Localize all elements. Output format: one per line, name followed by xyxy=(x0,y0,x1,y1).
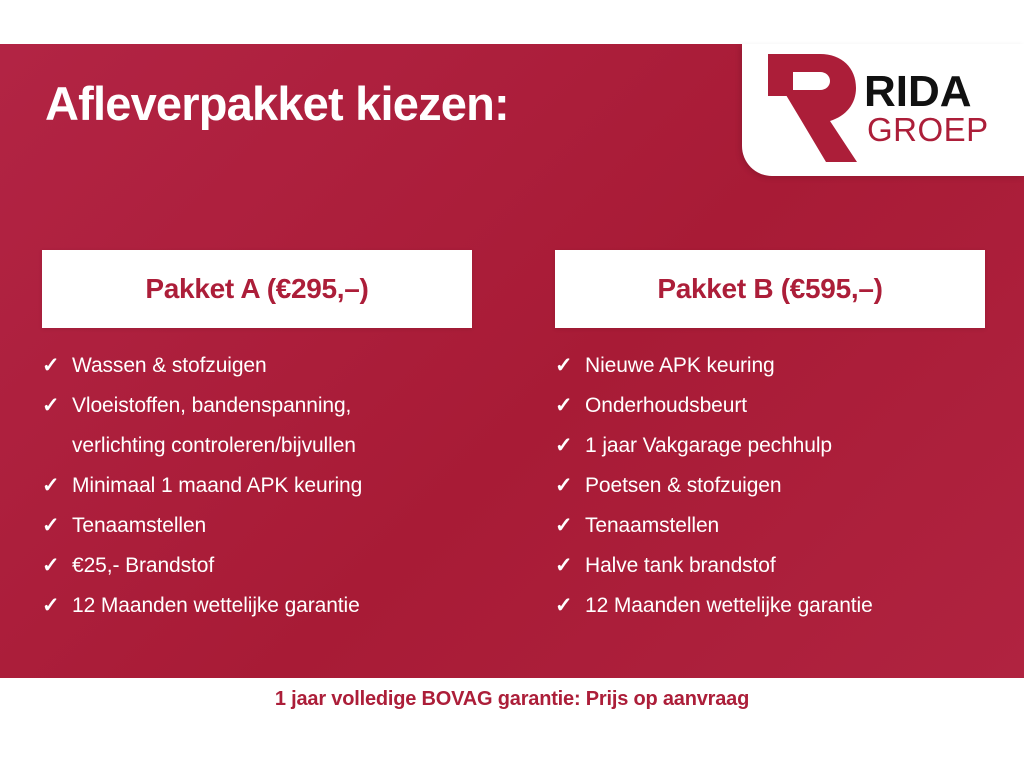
package-b-header[interactable]: Pakket B (€595,–) xyxy=(555,250,985,328)
list-item: ✓ 12 Maanden wettelijke garantie xyxy=(42,586,472,626)
list-item: ✓ Tenaamstellen xyxy=(42,506,472,546)
package-a-title: Pakket A (€295,–) xyxy=(145,273,368,305)
package-a-header[interactable]: Pakket A (€295,–) xyxy=(42,250,472,328)
check-icon: ✓ xyxy=(42,546,72,586)
feature-label: 12 Maanden wettelijke garantie xyxy=(72,586,472,626)
list-item: ✓ Wassen & stofzuigen xyxy=(42,346,472,386)
logo-secondary-text: GROEP xyxy=(867,113,989,148)
check-icon: ✓ xyxy=(42,586,72,626)
logo-plate: RIDA GROEP xyxy=(742,44,1024,176)
check-icon: ✓ xyxy=(555,586,585,626)
slide-root: Afleverpakket kiezen: RIDA GROEP Pakket … xyxy=(0,0,1024,768)
feature-label: €25,- Brandstof xyxy=(72,546,472,586)
check-icon: ✓ xyxy=(555,386,585,426)
list-item: ✓ 12 Maanden wettelijke garantie xyxy=(555,586,985,626)
check-icon: ✓ xyxy=(555,506,585,546)
check-icon: ✓ xyxy=(555,426,585,466)
feature-label: 1 jaar Vakgarage pechhulp xyxy=(585,426,985,466)
package-column-b: Pakket B (€595,–) ✓ Nieuwe APK keuring ✓… xyxy=(555,250,985,626)
list-item: ✓ Minimaal 1 maand APK keuring xyxy=(42,466,472,506)
logo-wordmark: RIDA GROEP xyxy=(864,71,989,148)
package-a-feature-list: ✓ Wassen & stofzuigen ✓ Vloeistoffen, ba… xyxy=(42,346,472,626)
feature-label: Onderhoudsbeurt xyxy=(585,386,985,426)
check-icon: ✓ xyxy=(42,346,72,386)
list-item: ✓ Tenaamstellen xyxy=(555,506,985,546)
feature-label: Halve tank brandstof xyxy=(585,546,985,586)
check-icon: ✓ xyxy=(42,466,72,506)
list-item: ✓ Nieuwe APK keuring xyxy=(555,346,985,386)
list-item: ✓ €25,- Brandstof xyxy=(42,546,472,586)
footer-bar: 1 jaar volledige BOVAG garantie: Prijs o… xyxy=(0,678,1024,768)
check-icon: ✓ xyxy=(555,466,585,506)
list-item: ✓ 1 jaar Vakgarage pechhulp xyxy=(555,426,985,466)
feature-label: Tenaamstellen xyxy=(72,506,472,546)
feature-label: Vloeistoffen, bandenspanning, verlichtin… xyxy=(72,386,472,466)
list-item: ✓ Poetsen & stofzuigen xyxy=(555,466,985,506)
logo-primary-text: RIDA xyxy=(864,71,989,113)
check-icon: ✓ xyxy=(555,346,585,386)
list-item: ✓ Onderhoudsbeurt xyxy=(555,386,985,426)
feature-label: Poetsen & stofzuigen xyxy=(585,466,985,506)
rida-r-mark-icon xyxy=(756,48,860,168)
package-b-title: Pakket B (€595,–) xyxy=(657,273,882,305)
feature-label: Tenaamstellen xyxy=(585,506,985,546)
package-b-feature-list: ✓ Nieuwe APK keuring ✓ Onderhoudsbeurt ✓… xyxy=(555,346,985,626)
package-column-a: Pakket A (€295,–) ✓ Wassen & stofzuigen … xyxy=(42,250,472,626)
check-icon: ✓ xyxy=(42,386,72,426)
footer-note: 1 jaar volledige BOVAG garantie: Prijs o… xyxy=(275,688,749,711)
feature-label: 12 Maanden wettelijke garantie xyxy=(585,586,985,626)
check-icon: ✓ xyxy=(42,506,72,546)
feature-label: Wassen & stofzuigen xyxy=(72,346,472,386)
feature-label: Minimaal 1 maand APK keuring xyxy=(72,466,472,506)
list-item: ✓ Vloeistoffen, bandenspanning, verlicht… xyxy=(42,386,472,466)
list-item: ✓ Halve tank brandstof xyxy=(555,546,985,586)
feature-label: Nieuwe APK keuring xyxy=(585,346,985,386)
logo-inner: RIDA GROEP xyxy=(742,44,1024,176)
page-title: Afleverpakket kiezen: xyxy=(45,78,509,130)
check-icon: ✓ xyxy=(555,546,585,586)
